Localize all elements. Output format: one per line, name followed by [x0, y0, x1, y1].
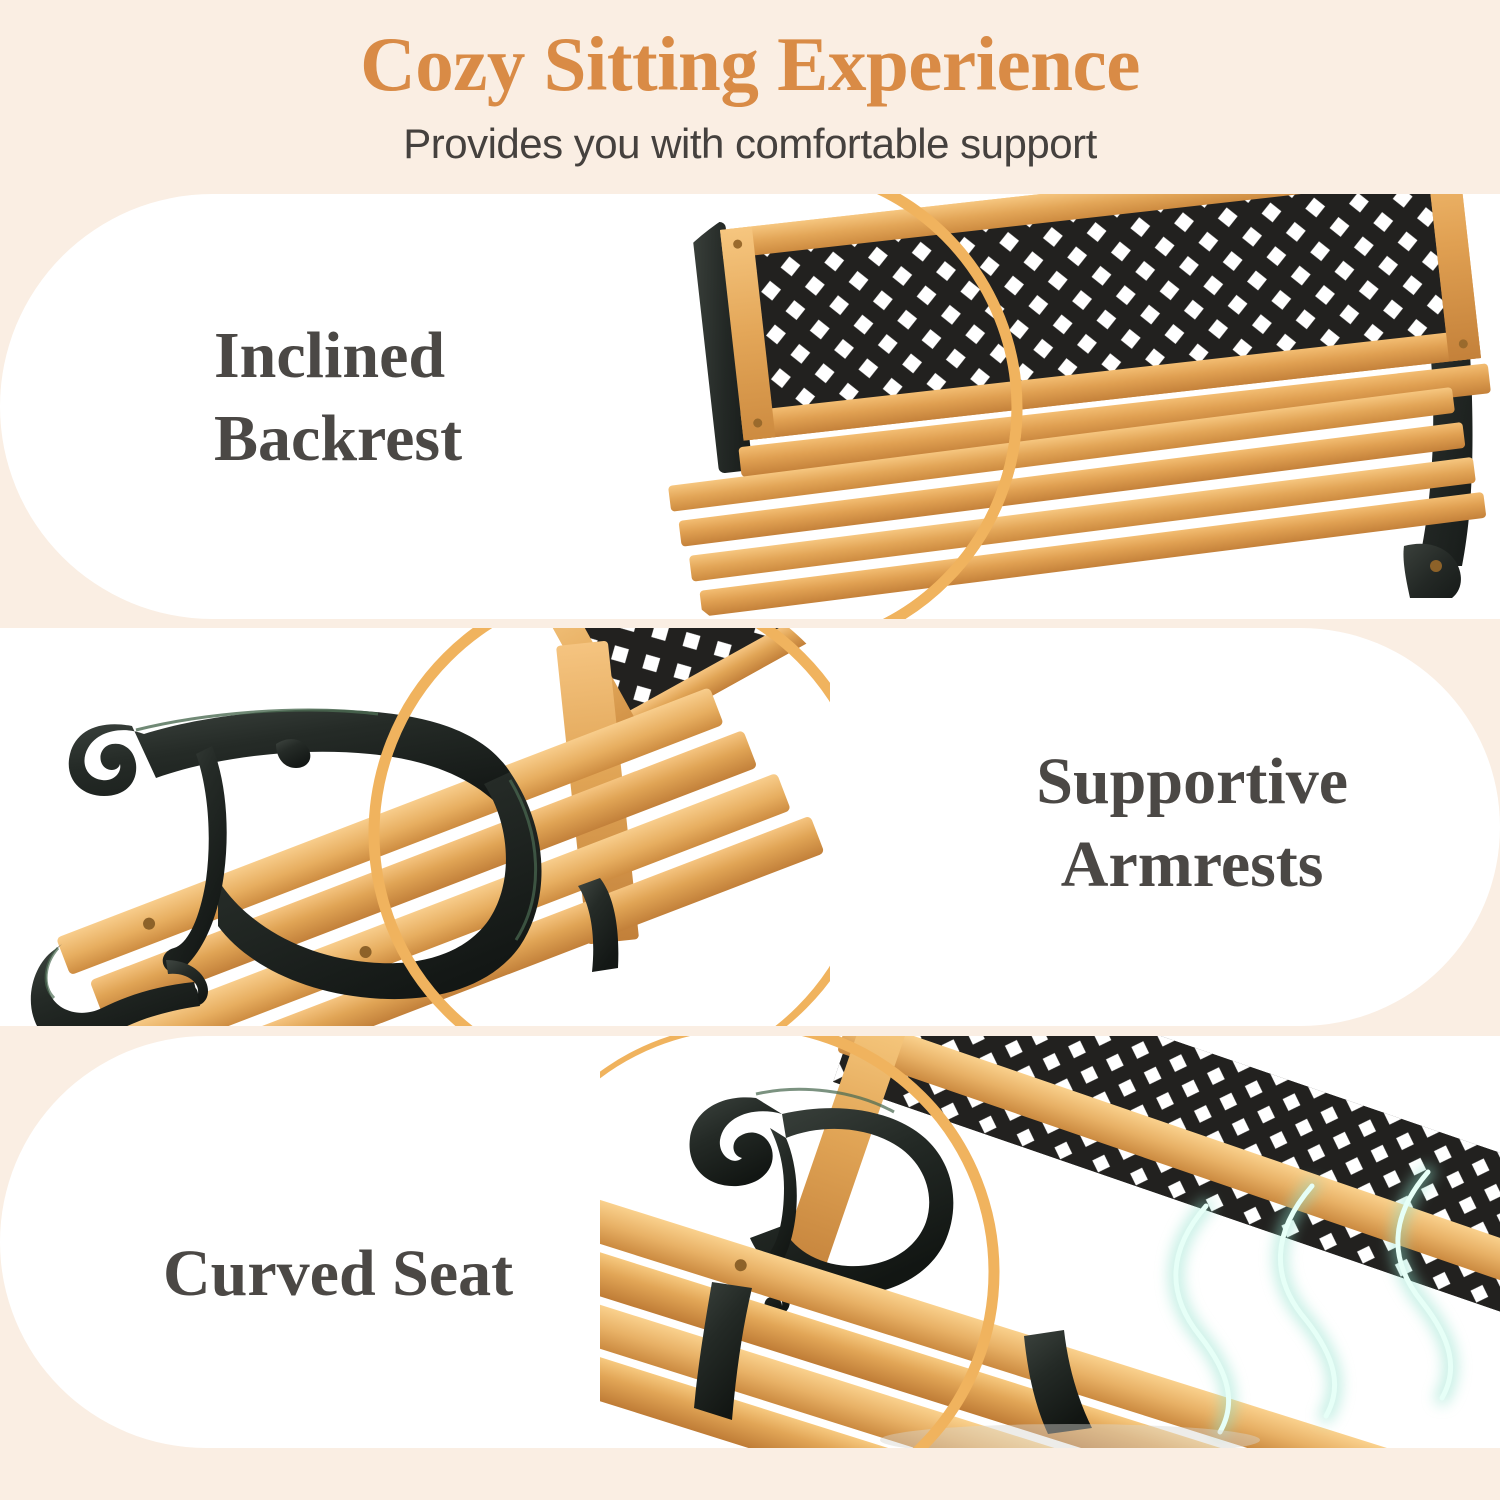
- feature-image-supportive-armrests: [0, 628, 870, 1026]
- header: Cozy Sitting Experience Provides you wit…: [0, 0, 1500, 185]
- page-title: Cozy Sitting Experience: [0, 26, 1500, 103]
- feature-caption-curved-seat: Curved Seat: [163, 1232, 513, 1315]
- feature-image-curved-seat: [600, 1036, 1500, 1448]
- page-subtitle: Provides you with comfortable support: [0, 120, 1500, 168]
- feature-caption-inclined-backrest: Inclined Backrest: [214, 314, 462, 480]
- feature-card-inclined-backrest: Inclined Backrest: [0, 194, 1500, 619]
- armrest-illustration: [0, 628, 870, 1026]
- feature-image-inclined-backrest: [598, 194, 1500, 619]
- feature-caption-supportive-armrests: Supportive Armrests: [1036, 740, 1348, 906]
- backrest-illustration: [598, 194, 1500, 619]
- feature-card-curved-seat: Curved Seat: [0, 1036, 1500, 1448]
- curved-seat-illustration: [600, 1036, 1500, 1448]
- feature-card-supportive-armrests: Supportive Armrests: [0, 628, 1500, 1026]
